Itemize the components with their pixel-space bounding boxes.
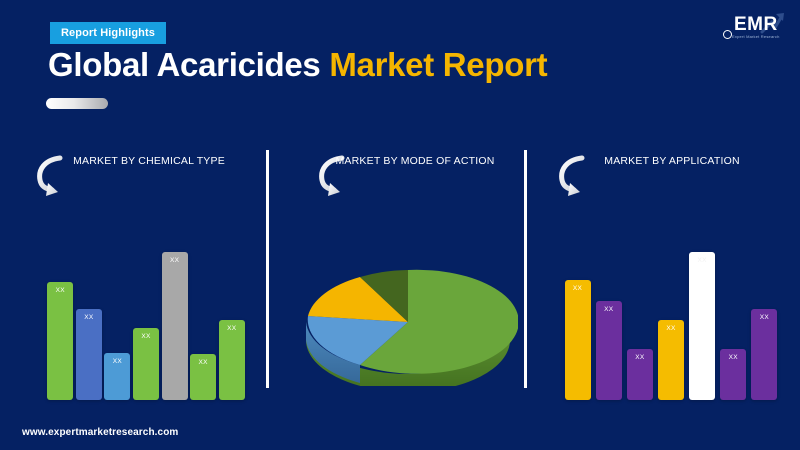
bar-slot: XX: [103, 210, 132, 400]
bar-label: XX: [627, 354, 653, 361]
section-mode-of-action: MARKET BY MODE OF ACTION: [280, 140, 530, 400]
emr-logo: EMR Expert Market Research: [710, 10, 790, 46]
bar-slot: XX: [749, 210, 780, 400]
page-title-accent: Market Report: [329, 46, 547, 83]
bar-slot: XX: [624, 210, 655, 400]
bar-label: XX: [76, 314, 102, 321]
page-title-primary: Global Acaricides: [48, 46, 320, 83]
bar: XX: [596, 301, 622, 400]
bar-chart-application: XX XX XX XX XX XX XX: [562, 210, 780, 400]
bar: XX: [751, 309, 777, 400]
bar: XX: [47, 282, 73, 400]
section-title-application: MARKET BY APPLICATION: [546, 155, 798, 167]
bar-slot: XX: [562, 210, 593, 400]
bar: XX: [190, 354, 216, 400]
bar: XX: [627, 349, 653, 400]
logo-ring-icon: [723, 30, 732, 39]
bar-slot: XX: [655, 210, 686, 400]
bar-label: XX: [720, 354, 746, 361]
bar-slot: XX: [75, 210, 104, 400]
pie-chart-svg: [298, 256, 518, 386]
bar: XX: [658, 320, 684, 400]
section-title-mode-of-action: MARKET BY MODE OF ACTION: [290, 155, 540, 167]
bar: XX: [565, 280, 591, 400]
bar-slot: XX: [132, 210, 161, 400]
bar-slot: XX: [687, 210, 718, 400]
section-chemical-type: MARKET BY CHEMICAL TYPE XX XX XX XX XX X…: [18, 140, 268, 400]
bar-chart-chemical-type: XX XX XX XX XX XX XX: [46, 210, 246, 400]
bar-label: XX: [596, 306, 622, 313]
bar-label: XX: [133, 333, 159, 340]
bar: XX: [219, 320, 245, 400]
bar: XX: [76, 309, 102, 400]
bar-label: XX: [751, 314, 777, 321]
bar-label: XX: [658, 325, 684, 332]
section-title-chemical-type: MARKET BY CHEMICAL TYPE: [24, 155, 274, 167]
bar-label: XX: [190, 359, 216, 366]
logo-text: EMR: [734, 14, 778, 36]
pie-chart-mode-of-action: [298, 256, 518, 386]
title-underline-pill: [46, 98, 108, 109]
bar: XX: [720, 349, 746, 400]
bar: XX: [104, 353, 130, 401]
bar-slot: XX: [217, 210, 246, 400]
bar-slot: XX: [160, 210, 189, 400]
page-title: Global Acaricides Market Report: [48, 46, 547, 84]
bar-label: XX: [219, 325, 245, 332]
bar: XX: [133, 328, 159, 400]
bar-label: XX: [689, 257, 715, 264]
bar-label: XX: [162, 257, 188, 264]
logo-tagline: Expert Market Research: [732, 34, 780, 39]
bar-slot: XX: [46, 210, 75, 400]
bar-label: XX: [47, 287, 73, 294]
report-highlights-badge: Report Highlights: [50, 22, 166, 44]
bar-slot: XX: [593, 210, 624, 400]
footer-url[interactable]: www.expertmarketresearch.com: [22, 427, 178, 438]
bar-slot: XX: [189, 210, 218, 400]
section-application: MARKET BY APPLICATION XX XX XX XX XX XX …: [540, 140, 792, 400]
bar-slot: XX: [718, 210, 749, 400]
bar: XX: [689, 252, 715, 400]
bar-label: XX: [565, 285, 591, 292]
bar: XX: [162, 252, 188, 400]
bar-label: XX: [104, 358, 130, 365]
